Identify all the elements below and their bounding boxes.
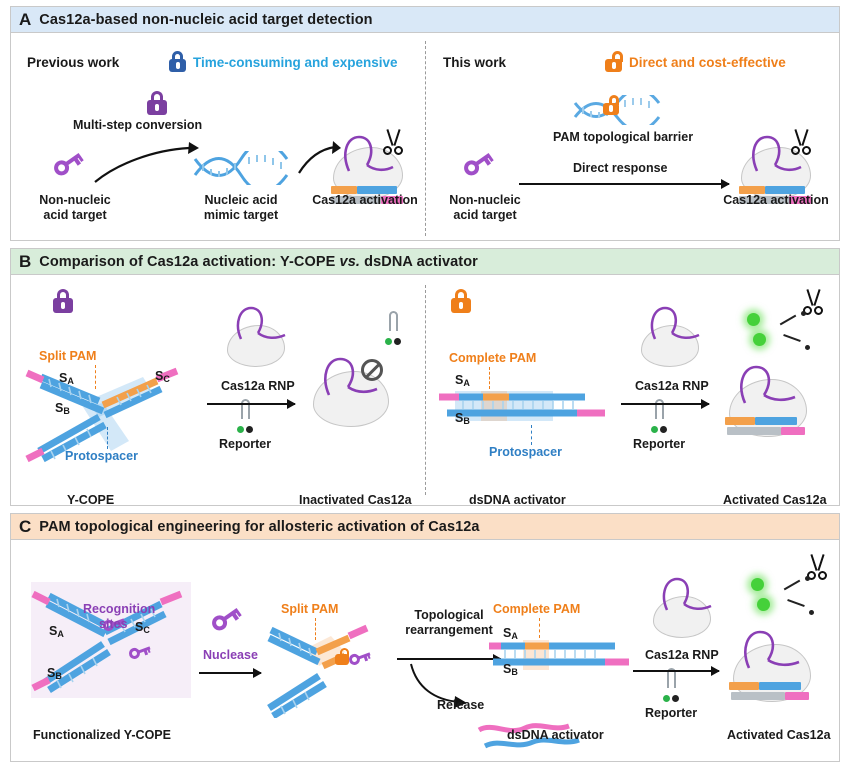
fluorescence-spark-1 xyxy=(747,313,760,326)
functionalized-y-cope xyxy=(31,582,193,700)
panel-b-protospacer-dash-right xyxy=(531,425,532,445)
panel-a-direct-arrow xyxy=(519,183,729,185)
panel-b-header: B Comparison of Cas12a activation: Y-COP… xyxy=(11,249,839,275)
panel-c-body: Recognition sites SA SB SC Functionalize… xyxy=(11,540,839,761)
panel-b-letter: B xyxy=(19,253,31,270)
nucleic-acid-mimic-helix xyxy=(193,151,289,185)
panel-a: A Cas12a-based non-nucleic acid target d… xyxy=(10,6,840,241)
panel-b-protospacer-label-right: Protospacer xyxy=(489,445,562,460)
panel-b-reporter-intact-icon xyxy=(383,311,403,345)
panel-c-small-lock-icon xyxy=(335,648,349,665)
nuclease-key-icon xyxy=(209,603,244,635)
panel-c-sb-label: SB xyxy=(47,666,62,682)
cleaved-fragment-c1 xyxy=(784,580,801,591)
panel-a-conversion-lock-icon xyxy=(147,91,167,115)
panel-b-divider xyxy=(425,285,426,495)
fluorescence-spark-c1 xyxy=(751,578,764,591)
panel-c-complete-pam-label: Complete PAM xyxy=(493,602,580,617)
cleaved-fragment-1 xyxy=(780,315,797,326)
panel-b-reporter-label-left: Reporter xyxy=(219,437,271,452)
panel-b-bottom-left-label-right: dsDNA activator xyxy=(469,493,566,508)
panel-c-functionalized-label: Functionalized Y-COPE xyxy=(33,728,171,743)
panel-c-reporter-icon xyxy=(661,668,681,702)
scissors-icon-a-left xyxy=(381,129,405,155)
non-nucleic-target-key-icon-right xyxy=(461,148,496,180)
panel-a-body: Previous work Time-consuming and expensi… xyxy=(11,33,839,240)
panel-b-bottom-right-label: Inactivated Cas12a xyxy=(299,493,412,508)
panel-c-sa-label: SA xyxy=(49,624,64,640)
panel-b-sb-label-right: SB xyxy=(455,411,470,427)
panel-b-complete-pam-dash xyxy=(489,367,490,389)
panel-a-mimic-label: Nucleic acid mimic target xyxy=(181,193,301,224)
panel-c-reporter-label: Reporter xyxy=(645,706,697,721)
panel-a-activation-label-left: Cas12a activation xyxy=(307,193,423,208)
panel-c-release-label: Release xyxy=(437,698,484,713)
panel-c-complete-pam-dash xyxy=(539,618,540,638)
figure-root: A Cas12a-based non-nucleic acid target d… xyxy=(0,0,850,768)
panel-c-intermediate-structure xyxy=(267,622,393,718)
panel-a-right-header: This work xyxy=(443,55,506,71)
panel-b-bottom-left-label: Y-COPE xyxy=(67,493,114,508)
panel-c-header: C PAM topological engineering for allost… xyxy=(11,514,839,540)
panel-a-letter: A xyxy=(19,11,31,28)
closed-padlock-icon xyxy=(169,51,186,72)
panel-b-arrow-left xyxy=(207,403,295,405)
panel-a-left-header: Previous work xyxy=(27,55,119,71)
panel-b-reporter-label-right: Reporter xyxy=(633,437,685,452)
panel-c-split-pam-label: Split PAM xyxy=(281,602,338,617)
panel-a-left-tag: Time-consuming and expensive xyxy=(193,55,398,71)
panel-c-dsdna-label: dsDNA activator xyxy=(507,728,604,743)
cleaved-dot-c2 xyxy=(809,610,814,615)
panel-b-arrow-right xyxy=(621,403,709,405)
panel-a-direct-label: Direct response xyxy=(573,161,667,176)
no-entry-icon xyxy=(361,359,383,381)
panel-a-activation-label-right: Cas12a activation xyxy=(711,193,841,208)
panel-a-title: Cas12a-based non-nucleic acid target det… xyxy=(39,12,372,28)
panel-c-letter: C xyxy=(19,518,31,535)
panel-b-complete-pam-label: Complete PAM xyxy=(449,351,536,366)
panel-c-topological-label: Topological rearrangement xyxy=(389,608,509,639)
panel-c-arrow-2 xyxy=(397,658,501,660)
panel-a-left-target-label: Non-nucleic acid target xyxy=(21,193,129,224)
panel-a-barrier-label: PAM topological barrier xyxy=(553,130,693,145)
panel-c-nuclease-label: Nuclease xyxy=(203,648,258,663)
pam-barrier-helix xyxy=(573,95,681,125)
panel-b-bottom-right-label-right: Activated Cas12a xyxy=(723,493,827,508)
panel-c-sa-label-2: SA xyxy=(503,626,518,642)
panel-c-title: PAM topological engineering for alloster… xyxy=(39,519,479,535)
panel-a-right-target-label: Non-nucleic acid target xyxy=(431,193,539,224)
panel-c: C PAM topological engineering for allost… xyxy=(10,513,840,762)
non-nucleic-target-key-icon xyxy=(51,148,86,180)
panel-c-activated-label: Activated Cas12a xyxy=(727,728,831,743)
fluorescence-spark-c2 xyxy=(757,598,770,611)
scissors-icon-a-right xyxy=(789,129,813,155)
panel-b-open-padlock-icon xyxy=(451,289,471,313)
cleaved-dot-c1 xyxy=(805,576,810,581)
panel-b-rnp-label-left: Cas12a RNP xyxy=(221,379,295,394)
panel-a-arrow-1 xyxy=(91,138,201,186)
panel-b-sc-label: SC xyxy=(155,369,170,385)
cleaved-fragment-2 xyxy=(783,334,801,342)
panel-c-sb-label-2: SB xyxy=(503,662,518,678)
panel-a-conversion-label: Multi-step conversion xyxy=(73,118,202,133)
cleaved-dot-1 xyxy=(801,311,806,316)
panel-b-sb-label: SB xyxy=(55,401,70,417)
panel-b-closed-padlock-icon xyxy=(53,289,73,313)
panel-a-right-tag: Direct and cost-effective xyxy=(629,55,786,71)
panel-b-body: Split PAM xyxy=(11,275,839,505)
panel-b: B Comparison of Cas12a activation: Y-COP… xyxy=(10,248,840,506)
panel-c-sc-label: SC xyxy=(135,620,150,636)
panel-b-protospacer-label: Protospacer xyxy=(65,449,138,464)
panel-a-header: A Cas12a-based non-nucleic acid target d… xyxy=(11,7,839,33)
panel-b-sa-label: SA xyxy=(59,371,74,387)
panel-b-title: Comparison of Cas12a activation: Y-COPE … xyxy=(39,254,478,270)
fluorescence-spark-2 xyxy=(753,333,766,346)
panel-c-rnp-label: Cas12a RNP xyxy=(645,648,719,663)
pam-barrier-lock-icon xyxy=(603,95,619,115)
panel-a-divider xyxy=(425,41,426,236)
panel-b-sa-label-right: SA xyxy=(455,373,470,389)
panel-c-arrow-3 xyxy=(633,670,719,672)
panel-b-protospacer-dash xyxy=(107,427,108,449)
open-padlock-icon xyxy=(605,51,622,72)
cleaved-dot-2 xyxy=(805,345,810,350)
panel-b-rnp-label-right: Cas12a RNP xyxy=(635,379,709,394)
cleaved-fragment-c2 xyxy=(787,599,805,607)
panel-c-arrow-1 xyxy=(199,672,261,674)
